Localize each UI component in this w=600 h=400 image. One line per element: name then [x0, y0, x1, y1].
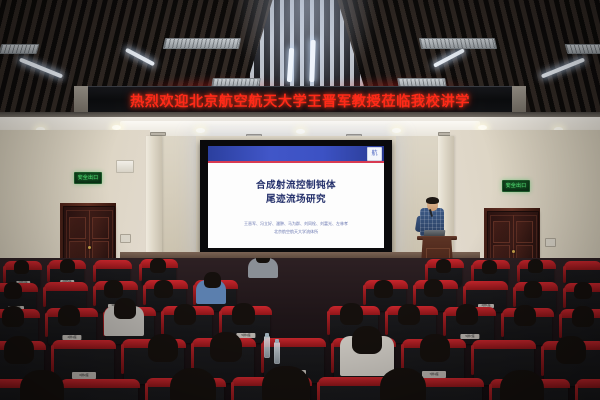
ceiling-ac-diffuser-left [163, 38, 241, 49]
seat-number: 5排7座 [460, 334, 479, 339]
audience-person [420, 334, 450, 362]
banner-text: 热烈欢迎北京航空航天大学王晋军教授莅临我校讲学 [130, 91, 470, 111]
audience-person [60, 259, 75, 273]
slide-affiliation: 北京航空航天大学流体所 [274, 228, 318, 236]
door-panel [92, 217, 109, 240]
audience-person [4, 336, 34, 364]
ceiling-ac-diffuser-far-right [565, 44, 600, 54]
audience-person [154, 280, 173, 298]
door-panel [69, 241, 86, 258]
door-panel [493, 221, 510, 243]
audience-person [572, 306, 594, 327]
banner-mount-left [74, 86, 88, 114]
lecture-hall-photo: 热烈欢迎北京航空航天大学王晋军教授莅临我校讲学 安全出口 安全出口 [0, 0, 600, 400]
audience-person-foreground [20, 370, 64, 400]
water-bottle-1[interactable] [264, 336, 270, 358]
audience-person-head [352, 326, 382, 354]
audience-person [340, 303, 363, 325]
audience-person [482, 260, 497, 274]
audience-person-head [256, 258, 270, 263]
exit-sign-right: 安全出口 [502, 180, 530, 192]
slide-body: 合成射流控制钝体 尾迹流场研究 王晋军、冯立好、潘翀、马为群、刘同栓、刘富光、左… [208, 163, 384, 248]
audience-person [104, 280, 123, 298]
audience-person-head [114, 298, 136, 319]
water-bottle-2[interactable] [274, 342, 280, 364]
door-handle-right[interactable] [512, 250, 515, 253]
light-switch-right[interactable] [545, 238, 556, 247]
audience-person [398, 304, 420, 325]
slide-header-bar: 航 [208, 146, 384, 161]
university-logo-icon: 航 [367, 147, 382, 161]
audience-person-foreground [262, 366, 310, 400]
seat[interactable]: 7排8座 [62, 382, 138, 400]
audience-person [436, 259, 451, 273]
audience-person [574, 282, 592, 299]
audience-person [556, 336, 586, 364]
slide-title-line-2: 尾迹流场研究 [266, 193, 326, 207]
slide-authors: 王晋军、冯立好、潘翀、马为群、刘同栓、刘富光、左林孝 [244, 220, 348, 228]
ceiling-ac-diffuser-right [419, 38, 497, 49]
presentation-slide: 航 合成射流控制钝体 尾迹流场研究 王晋军、冯立好、潘翀、马为群、刘同栓、刘富光… [208, 146, 384, 248]
audience-person-foreground [500, 370, 544, 400]
audience-person [456, 304, 478, 325]
audience-person [14, 260, 29, 274]
seat[interactable] [578, 382, 600, 400]
exit-sign-left-label: 安全出口 [78, 176, 99, 181]
downlight-5 [392, 128, 401, 133]
exit-sign-left: 安全出口 [74, 172, 102, 184]
audience-area: 2排3座 2排5座 3排2座 3排6座 4排1座 [0, 258, 600, 400]
exit-sign-right-label: 安全出口 [506, 184, 527, 189]
door-panel [516, 221, 533, 243]
light-switch-left[interactable] [120, 234, 131, 243]
downlight-4 [296, 129, 305, 134]
downlight-3 [196, 128, 205, 133]
ceiling-ac-diffuser-far-left [0, 44, 39, 54]
audience-person [2, 306, 24, 327]
audience-person [148, 334, 178, 362]
projection-screen: 航 合成射流控制钝体 尾迹流场研究 王晋军、冯立好、潘翀、马为群、刘同栓、刘富光… [200, 140, 392, 254]
audience-person [58, 305, 80, 326]
slide-title-line-1: 合成射流控制钝体 [256, 179, 336, 193]
door-panel [69, 217, 86, 240]
audience-person-head [204, 272, 221, 288]
door-handle-left[interactable] [88, 246, 91, 249]
audience-person-foreground [380, 368, 426, 400]
banner-mount-right [512, 86, 526, 114]
audience-person [174, 304, 196, 325]
audience-person [210, 332, 242, 362]
audience-person [424, 279, 443, 297]
audience-person [528, 259, 543, 273]
audience-person [150, 258, 166, 273]
wall-speaker-left [116, 160, 134, 173]
door-panel [92, 241, 109, 258]
speaker-hair [426, 197, 439, 204]
audience-person [374, 280, 393, 298]
audience-person [524, 281, 542, 298]
audience-person-foreground [170, 368, 216, 400]
audience-person [4, 282, 22, 299]
audience-person [514, 305, 536, 326]
audience-person [232, 303, 255, 325]
